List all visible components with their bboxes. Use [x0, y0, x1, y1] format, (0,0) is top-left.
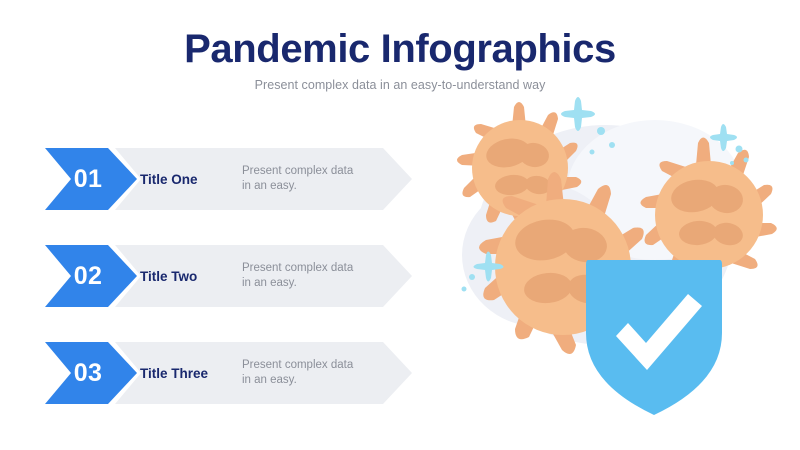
row-description-line1-3: Present complex data	[242, 358, 382, 373]
page-title: Pandemic Infographics	[0, 26, 800, 72]
infographic-row-3[interactable]: 03 Title Three Present complex data in a…	[0, 342, 420, 404]
shield-with-checkmark	[586, 260, 722, 415]
row-description-2: Present complex data in an easy.	[242, 245, 382, 307]
header: Pandemic Infographics Present complex da…	[0, 26, 800, 93]
row-description-3: Present complex data in an easy.	[242, 342, 382, 404]
row-title-1: Title One	[140, 148, 232, 210]
infographic-row-2[interactable]: 02 Title Two Present complex data in an …	[0, 245, 420, 307]
row-number-3: 03	[60, 342, 116, 404]
slide-canvas: Pandemic Infographics Present complex da…	[0, 0, 800, 450]
row-number-1: 01	[60, 148, 116, 210]
row-description-line2-2: in an easy.	[242, 276, 382, 291]
page-subtitle: Present complex data in an easy-to-under…	[0, 77, 800, 93]
infographic-rows: 01 Title One Present complex data in an …	[0, 140, 430, 410]
illustration-svg	[430, 95, 800, 450]
row-description-line1-1: Present complex data	[242, 164, 382, 179]
row-description-1: Present complex data in an easy.	[242, 148, 382, 210]
row-description-line1-2: Present complex data	[242, 261, 382, 276]
row-number-2: 02	[60, 245, 116, 307]
row-description-line2-3: in an easy.	[242, 373, 382, 388]
row-title-3: Title Three	[140, 342, 232, 404]
pandemic-virus-shield-illustration	[430, 95, 800, 450]
row-title-2: Title Two	[140, 245, 232, 307]
infographic-row-1[interactable]: 01 Title One Present complex data in an …	[0, 148, 420, 210]
row-description-line2-1: in an easy.	[242, 179, 382, 194]
